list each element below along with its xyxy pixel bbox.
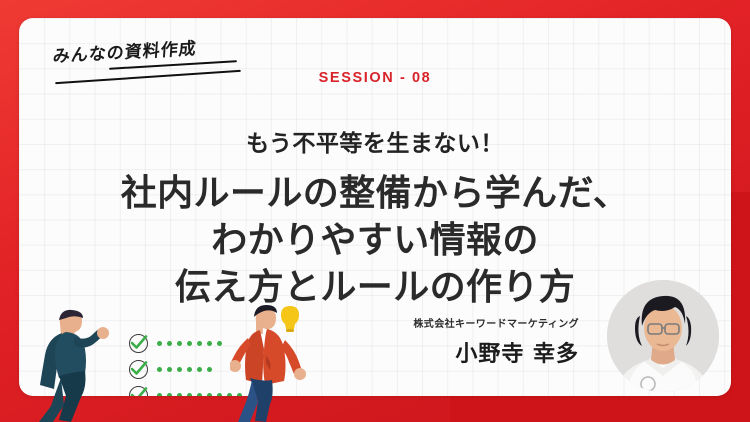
- slide-subtitle: もう不平等を生まない！: [19, 124, 731, 158]
- slide-title: 社内ルールの整備から学んだ、 わかりやすい情報の 伝え方とルールの作り方: [19, 170, 731, 311]
- check-circle-icon: [129, 334, 148, 353]
- presentation-slide: みんなの資料作成 SESSION - 08 もう不平等を生まない！ 社内ルールの…: [0, 0, 750, 422]
- brand-logo-text: みんなの資料作成: [52, 34, 197, 67]
- speaker-info: 株式会社キーワードマーケティング 小野寺 幸多: [413, 315, 579, 368]
- dotted-line: [157, 341, 227, 346]
- title-line-1: 社内ルールの整備から学んだ、: [19, 170, 731, 217]
- dotted-line: [157, 367, 217, 372]
- check-circle-icon: [129, 386, 148, 397]
- person-in-orange-coat: [230, 300, 316, 422]
- person-in-navy-suit: [36, 306, 116, 422]
- speaker-company: 株式会社キーワードマーケティング: [413, 315, 579, 330]
- speaker-name: 小野寺 幸多: [413, 336, 579, 368]
- title-line-2: わかりやすい情報の: [19, 217, 731, 264]
- check-circle-icon: [129, 360, 148, 379]
- session-label: SESSION - 08: [19, 70, 731, 86]
- avatar: [607, 280, 719, 392]
- lightbulb-icon: [281, 306, 299, 332]
